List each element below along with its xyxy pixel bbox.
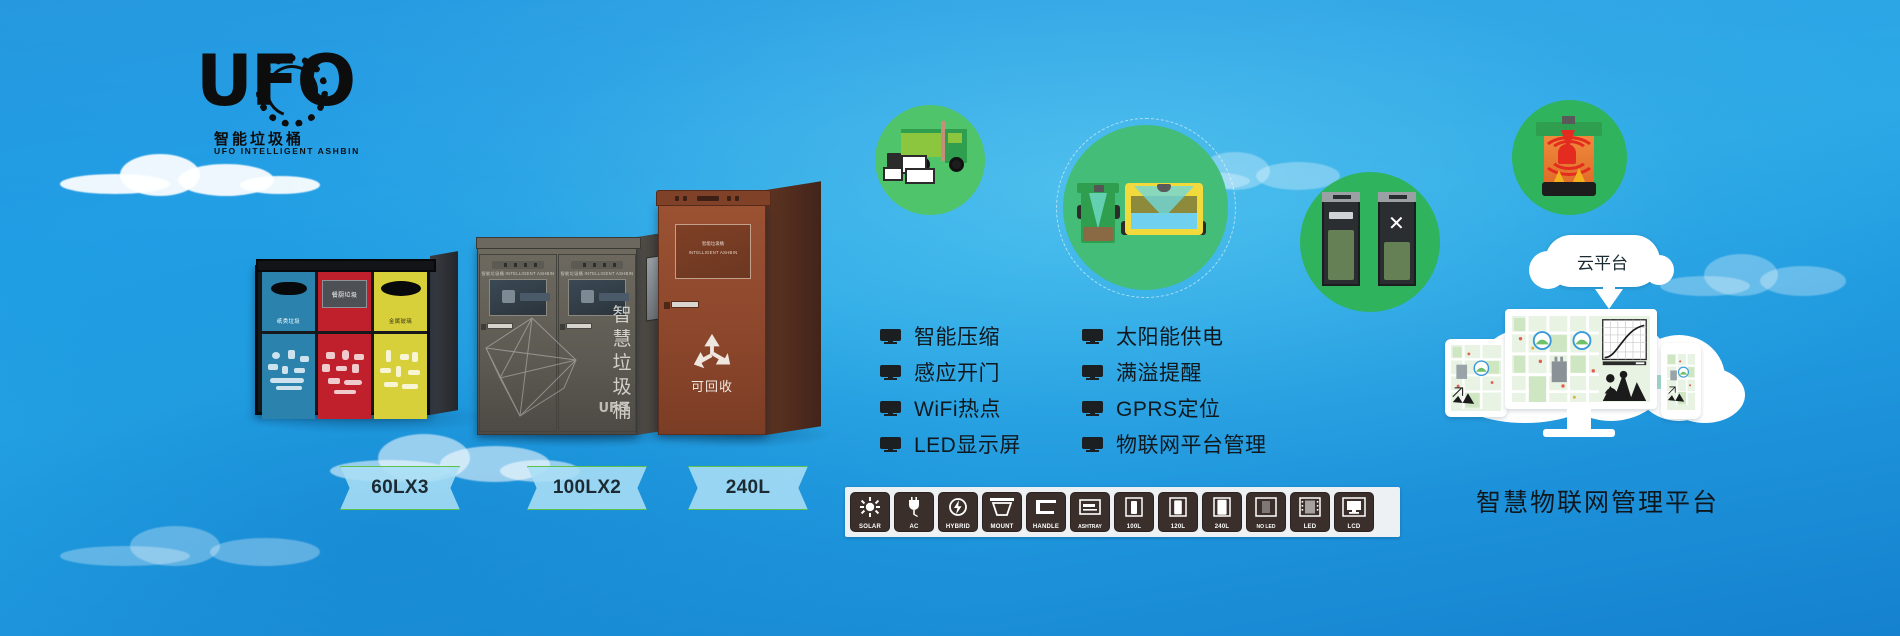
- capacity-label-240l: 240L: [688, 466, 808, 510]
- logo-english-tagline: UFO INTELLIGENT ASHBIN: [214, 146, 360, 156]
- spec-icon-solar[interactable]: SOLAR: [850, 492, 890, 532]
- panel-line-2: INTELLIGENT ASHBIN: [676, 250, 750, 255]
- ashtray-icon: [1071, 495, 1109, 519]
- monitor-screen: [1512, 316, 1650, 402]
- feature-label: WiFi热点: [914, 393, 1001, 423]
- spec-label: ASHTRAY: [1071, 524, 1109, 530]
- feature-item: 感应开门: [880, 354, 1021, 390]
- spec-icon-mount[interactable]: MOUNT: [982, 492, 1022, 532]
- device-laptop: [883, 167, 903, 181]
- phone-map-chart: [1667, 354, 1695, 405]
- handle-icon: [1027, 495, 1065, 519]
- bin-info-panel: 智能垃圾桶 INTELLIGENT ASHBIN: [675, 224, 751, 279]
- bin-brand-mark: UFO: [599, 401, 630, 416]
- feature-label: 物联网平台管理: [1116, 429, 1267, 459]
- bin-lid: [476, 237, 641, 249]
- feature-label: 满溢提醒: [1116, 357, 1202, 387]
- compartment-lower-panel: [262, 334, 315, 419]
- down-arrow-icon: [1595, 289, 1623, 309]
- window-panel-icon: 餐厨垃圾: [322, 280, 367, 308]
- screen-thumb-icon: [502, 290, 515, 303]
- spec-icon-ac[interactable]: AC: [894, 492, 934, 532]
- compartment-lower-panel: [318, 334, 371, 419]
- feature-label: LED显示屏: [914, 429, 1021, 459]
- feature-item: 满溢提醒: [1082, 354, 1267, 390]
- bin-handle[interactable]: [671, 301, 699, 308]
- monitor-bullet-icon: [1082, 365, 1103, 380]
- spec-label: HYBRID: [939, 524, 977, 530]
- device-monitor: [905, 168, 935, 184]
- feature-label: 智能压缩: [914, 321, 1000, 351]
- dashboard-map-and-charts: [1512, 316, 1650, 402]
- phone-screen: [1667, 354, 1695, 410]
- waste-pictograms: [318, 350, 371, 415]
- spec-icon-no-led[interactable]: NO LED: [1246, 492, 1286, 532]
- spec-icon-ashtray[interactable]: ASHTRAY: [1070, 492, 1110, 532]
- bin-small-icon: [1115, 495, 1153, 519]
- feature-circle-fire-alarm: [1512, 100, 1627, 215]
- feature-label: 太阳能供电: [1116, 321, 1224, 351]
- sun-icon: [851, 495, 889, 519]
- yellow-container-sensor: [1125, 183, 1203, 235]
- led-panel-icon: [1291, 495, 1329, 519]
- bin-lid: [656, 190, 771, 206]
- spec-label: 120L: [1159, 524, 1197, 530]
- tablet-screen: [1451, 345, 1501, 411]
- monitor-bullet-icon: [880, 365, 901, 380]
- spec-icon-hybrid[interactable]: HYBRID: [938, 492, 978, 532]
- feature-item: GPRS定位: [1082, 390, 1267, 426]
- compartment-label: 金属玻璃: [374, 317, 427, 325]
- monitor-bullet-icon: [1082, 437, 1103, 452]
- logo-wordmark-group: UFO: [196, 52, 376, 130]
- spec-icon-led[interactable]: LED: [1290, 492, 1330, 532]
- spec-icon-strip: SOLAR AC HYBRID MOUNT: [845, 487, 1400, 537]
- led-strip: [492, 261, 544, 269]
- bin-medium-icon: [1159, 495, 1197, 519]
- recycle-icon: [689, 332, 735, 374]
- spec-label: SOLAR: [851, 524, 889, 530]
- device-tablet[interactable]: [1445, 339, 1507, 417]
- led-strip: [571, 261, 623, 269]
- oval-slot-icon: [271, 282, 307, 295]
- device-desktop-monitor[interactable]: [1505, 309, 1657, 409]
- waste-pictograms: [262, 350, 315, 415]
- compartment-upper-panel: 餐厨垃圾: [318, 272, 371, 331]
- bin-large-icon: [1203, 495, 1241, 519]
- compartment-metal-glass[interactable]: 金属玻璃: [374, 272, 427, 415]
- compartment-paper-waste[interactable]: 纸类垃圾: [262, 272, 315, 415]
- bin-side-panel: [766, 181, 821, 435]
- compartment-upper-panel: 纸类垃圾: [262, 272, 315, 331]
- lcd-screen-icon: [1335, 495, 1373, 519]
- spec-icon-handle[interactable]: HANDLE: [1026, 492, 1066, 532]
- spec-label: HANDLE: [1027, 524, 1065, 530]
- wall-mount-icon: [983, 495, 1021, 519]
- iot-platform-illustration: 云平台: [1425, 235, 1770, 535]
- monitor-bullet-icon: [1082, 329, 1103, 344]
- compartment-upper-panel: 金属玻璃: [374, 272, 427, 331]
- capacity-label-100lx2: 100LX2: [527, 466, 647, 510]
- decorative-polygon-mesh: [480, 308, 590, 426]
- bin-front-frame: 纸类垃圾: [255, 265, 430, 415]
- spec-label: NO LED: [1247, 524, 1285, 530]
- monitor-bullet-icon: [880, 401, 901, 416]
- bin-lid: [256, 259, 436, 272]
- product-two-compartment-bin[interactable]: 智能垃圾桶 INTELLIGENT ASHBIN 智能垃圾桶 INTELLIGE…: [477, 245, 677, 435]
- fire-alarm-bin: [1540, 122, 1598, 192]
- compartment-kitchen-waste[interactable]: 餐厨垃圾: [318, 272, 371, 415]
- spec-icon-lcd[interactable]: LCD: [1334, 492, 1374, 532]
- screen-text-bar: [599, 293, 629, 301]
- tablet-map-chart: [1451, 345, 1501, 409]
- lightning-circle-icon: [939, 495, 977, 519]
- feature-item: 物联网平台管理: [1082, 426, 1267, 462]
- spec-icon-100l[interactable]: 100L: [1114, 492, 1154, 532]
- power-plug-icon: [895, 495, 933, 519]
- banner-canvas: UFO 智能垃圾桶 UFO INTELLIGENT ASHBIN 纸类垃圾: [0, 0, 1900, 636]
- monitor-bullet-icon: [880, 437, 901, 452]
- round-slot-icon: [381, 281, 421, 296]
- monitor-neck: [1567, 409, 1591, 431]
- spec-label: 100L: [1115, 524, 1153, 530]
- capacity-label-60lx3: 60LX3: [340, 466, 460, 510]
- bin-front-frame: 智能垃圾桶 INTELLIGENT ASHBIN 可回收: [658, 203, 766, 435]
- truck-body: [901, 129, 945, 157]
- feature-item: WiFi热点: [880, 390, 1021, 426]
- feature-label: 感应开门: [914, 357, 1000, 387]
- feature-list-right: 太阳能供电 满溢提醒 GPRS定位 物联网平台管理: [1082, 318, 1267, 462]
- monitor-base: [1543, 429, 1615, 437]
- feature-item: LED显示屏: [880, 426, 1021, 462]
- spec-label: LCD: [1335, 524, 1373, 530]
- compartment-lower-panel: [374, 334, 427, 419]
- spec-icon-240l[interactable]: 240L: [1202, 492, 1242, 532]
- blank-panel-icon: [1247, 495, 1285, 519]
- cloud-bottom-left: [60, 520, 360, 570]
- recycle-label: 可回收: [659, 376, 765, 395]
- platform-title: 智慧物联网管理平台: [1425, 483, 1770, 519]
- feature-circle-collection-vehicle: [875, 105, 985, 215]
- feature-circle-fill-level-sensing: [1063, 125, 1228, 290]
- spec-label: AC: [895, 524, 933, 530]
- feature-circle-smart-compaction: ✕: [1300, 172, 1440, 312]
- green-bin-sensor: [1081, 191, 1115, 243]
- cloud-platform-label: 云平台: [1577, 249, 1628, 274]
- spec-label: 240L: [1203, 524, 1241, 530]
- bin-before-compaction: [1322, 198, 1360, 286]
- door-caption: 智能垃圾桶 INTELLIGENT ASHBIN: [480, 271, 556, 277]
- spec-label: MOUNT: [983, 524, 1021, 530]
- spec-icon-120l[interactable]: 120L: [1158, 492, 1198, 532]
- door-caption: 智能垃圾桶 INTELLIGENT ASHBIN: [559, 271, 635, 277]
- panel-line-1: 智能垃圾桶: [676, 241, 750, 247]
- monitor-bullet-icon: [880, 329, 901, 344]
- truck-wheel-front: [949, 157, 964, 172]
- device-smartphone[interactable]: [1661, 343, 1701, 419]
- screen-thumb-icon: [581, 290, 594, 303]
- compartment-label: 餐厨垃圾: [323, 290, 366, 299]
- spec-label: LED: [1291, 524, 1329, 530]
- compartment-label: 纸类垃圾: [262, 317, 315, 325]
- product-single-bin[interactable]: 智能垃圾桶 INTELLIGENT ASHBIN 可回收: [658, 203, 828, 435]
- screen-text-bar: [520, 293, 550, 301]
- feature-item: 智能压缩: [880, 318, 1021, 354]
- bin-after-compaction: ✕: [1378, 198, 1416, 286]
- feature-list-left: 智能压缩 感应开门 WiFi热点 LED显示屏: [880, 318, 1021, 462]
- product-three-compartment-bin[interactable]: 纸类垃圾: [255, 265, 465, 415]
- bin-side-panel: [430, 251, 458, 415]
- monitor-bullet-icon: [1082, 401, 1103, 416]
- bin-front-frame: 智能垃圾桶 INTELLIGENT ASHBIN 智能垃圾桶 INTELLIGE…: [477, 245, 637, 435]
- feature-label: GPRS定位: [1116, 393, 1221, 423]
- feature-item: 太阳能供电: [1082, 318, 1267, 354]
- waste-pictograms: [374, 350, 427, 415]
- brand-logo: UFO 智能垃圾桶 UFO INTELLIGENT ASHBIN: [196, 52, 376, 157]
